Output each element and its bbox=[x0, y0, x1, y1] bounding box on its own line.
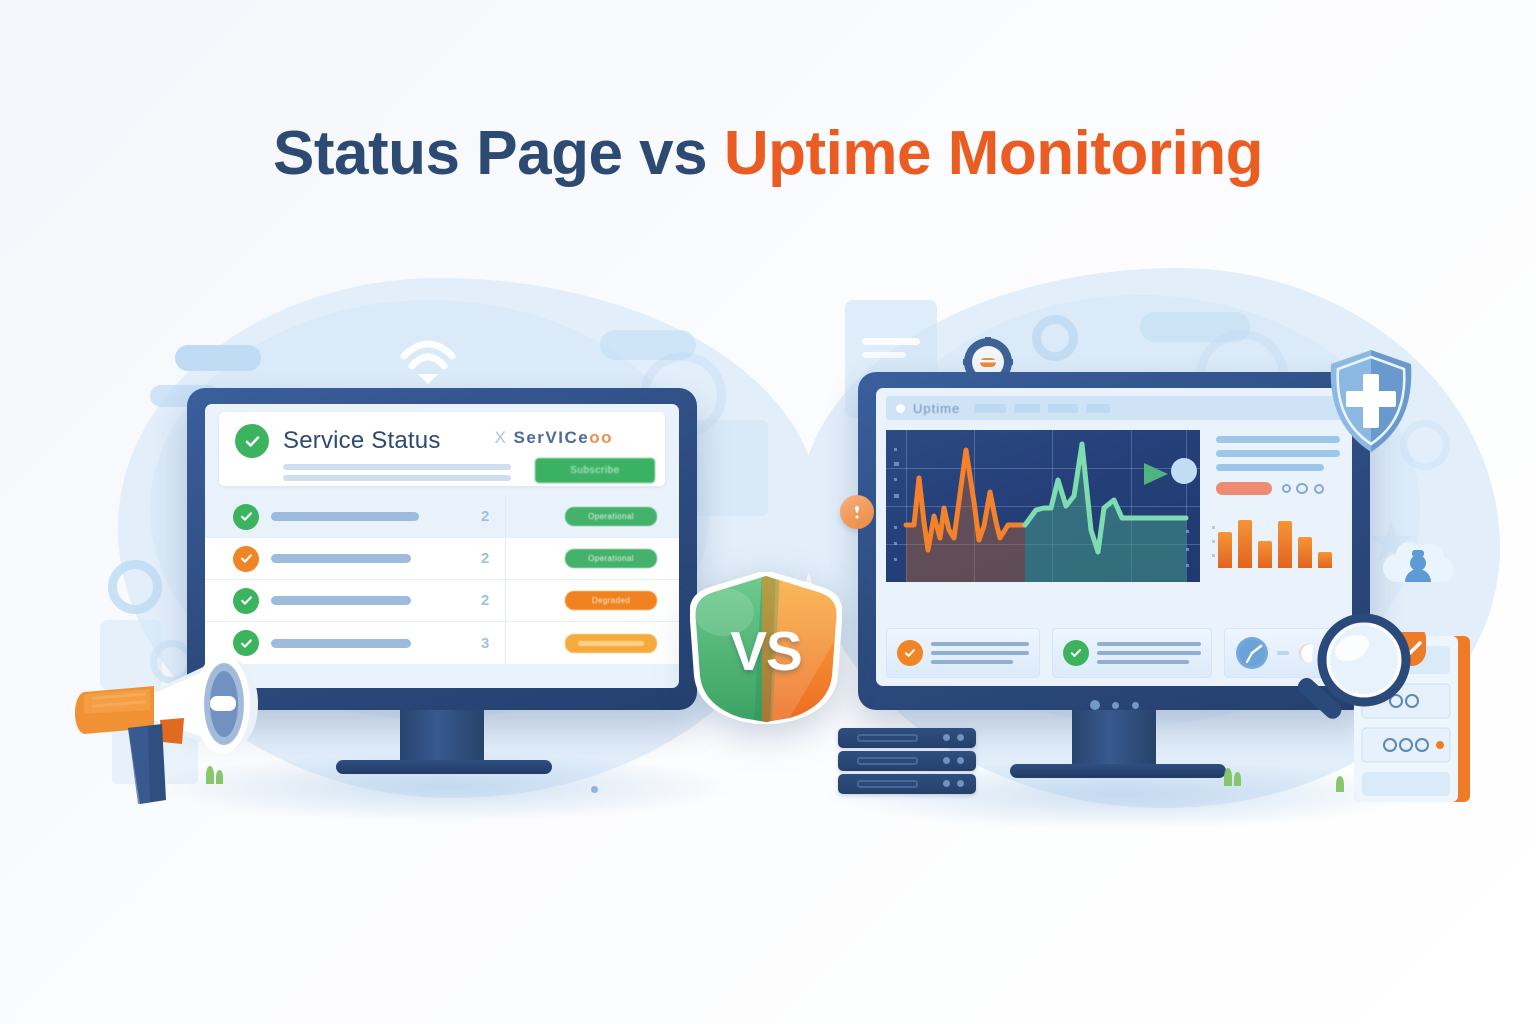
gear-icon bbox=[108, 560, 162, 614]
row-label-bar bbox=[271, 554, 411, 563]
mini-bar bbox=[1238, 520, 1252, 568]
row-count: 2 bbox=[481, 508, 489, 525]
topbar-chip bbox=[1048, 404, 1078, 413]
table-row[interactable]: 2 Degraded bbox=[205, 580, 679, 622]
doc-deco bbox=[690, 420, 768, 516]
bezel-dot bbox=[591, 786, 598, 793]
subscribe-button[interactable]: Subscribe bbox=[535, 458, 655, 483]
server-unit bbox=[838, 751, 976, 771]
badge-inner-bar bbox=[578, 641, 644, 646]
service-status-header-card: Service Status XSerVICeoo Subscribe bbox=[219, 412, 665, 486]
sidebar-line bbox=[1216, 464, 1324, 471]
status-badge: Degraded bbox=[565, 591, 657, 610]
row-label-bar bbox=[271, 596, 411, 605]
title-part-status-page: Status Page vs bbox=[273, 119, 724, 188]
header-placeholder-line bbox=[283, 475, 511, 481]
topbar-chip bbox=[1014, 404, 1040, 413]
mini-bar bbox=[1278, 521, 1292, 568]
server-led bbox=[943, 734, 950, 741]
server-slot bbox=[857, 780, 918, 788]
card-line bbox=[931, 651, 1029, 655]
row-divider bbox=[505, 580, 506, 621]
ring-icon bbox=[1296, 483, 1308, 494]
check-circle-icon bbox=[233, 546, 259, 572]
server-slot bbox=[857, 757, 918, 765]
server-led bbox=[943, 757, 950, 764]
gear-icon bbox=[1032, 315, 1078, 361]
server-led bbox=[957, 780, 964, 787]
dashboard-title: Uptime bbox=[913, 401, 960, 416]
circle-icon bbox=[896, 404, 905, 413]
axis-tick bbox=[1212, 540, 1215, 543]
wifi-icon bbox=[398, 340, 458, 393]
server-unit bbox=[838, 774, 976, 794]
card-line bbox=[1097, 642, 1201, 646]
brand-suffix: oo bbox=[589, 428, 613, 447]
check-circle-icon bbox=[235, 424, 269, 458]
table-row[interactable]: 2 Operational bbox=[205, 538, 679, 580]
card-lines bbox=[931, 642, 1029, 664]
bezel-dot bbox=[1112, 702, 1119, 709]
sidebar-pill bbox=[1216, 482, 1272, 495]
dashboard-card[interactable] bbox=[1052, 628, 1212, 678]
mini-bar bbox=[1318, 552, 1332, 568]
monitor-base-left bbox=[336, 760, 552, 774]
row-divider bbox=[505, 496, 506, 537]
doc-line-deco bbox=[862, 352, 906, 358]
check-circle-icon bbox=[233, 588, 259, 614]
service-status-title: Service Status bbox=[283, 427, 441, 455]
dashboard-topbar: Uptime bbox=[886, 396, 1342, 420]
brand-name: SerVICe bbox=[514, 428, 590, 447]
gauge-icon bbox=[1235, 636, 1269, 670]
row-divider bbox=[505, 622, 506, 664]
illustration-canvas: Status Page vs Uptime Monitoring bbox=[0, 0, 1536, 1024]
card-lines bbox=[1097, 642, 1201, 664]
check-circle-icon bbox=[233, 504, 259, 530]
bezel-dot bbox=[1132, 702, 1139, 709]
magnifying-glass-icon bbox=[1286, 612, 1416, 744]
dashboard-screen: Uptime bbox=[876, 388, 1352, 686]
row-count: 2 bbox=[481, 592, 489, 609]
service-brand-logo: XSerVICeoo bbox=[495, 428, 613, 448]
server-unit bbox=[838, 728, 976, 748]
server-led bbox=[943, 780, 950, 787]
monitor-base-right bbox=[1010, 764, 1226, 778]
monitor-neck-left bbox=[400, 710, 484, 762]
axis-tick bbox=[1212, 526, 1215, 529]
shield-cross-icon bbox=[1325, 348, 1417, 458]
grass-deco bbox=[1336, 776, 1344, 792]
sidebar-line bbox=[1216, 450, 1340, 457]
grass-deco bbox=[1224, 768, 1232, 786]
server-led bbox=[957, 757, 964, 764]
user-avatar-icon bbox=[1378, 538, 1458, 600]
server-slot bbox=[857, 734, 918, 742]
page-title: Status Page vs Uptime Monitoring bbox=[0, 118, 1536, 189]
status-badge bbox=[565, 634, 657, 653]
server-led bbox=[957, 734, 964, 741]
grass-deco bbox=[1234, 772, 1241, 786]
ring-icon bbox=[1314, 484, 1324, 494]
mini-bar bbox=[1218, 532, 1232, 568]
alert-circle-icon bbox=[840, 495, 874, 529]
title-part-uptime-monitoring: Uptime Monitoring bbox=[724, 119, 1263, 188]
header-placeholder-line bbox=[283, 464, 511, 470]
axis-tick bbox=[1212, 554, 1215, 557]
card-line bbox=[931, 642, 1029, 646]
card-line bbox=[931, 660, 1013, 664]
vs-badge: VS bbox=[690, 572, 842, 724]
topbar-chip bbox=[1086, 404, 1110, 413]
dashboard-card[interactable] bbox=[886, 628, 1040, 678]
monitor-neck-right bbox=[1072, 710, 1156, 766]
row-divider bbox=[505, 538, 506, 579]
topbar-chip bbox=[974, 404, 1006, 413]
sidebar-line bbox=[1216, 436, 1340, 443]
cloud-icon bbox=[175, 345, 261, 371]
table-row[interactable]: 2 Operational bbox=[205, 496, 679, 538]
mini-bar bbox=[1298, 537, 1312, 568]
server-stack-icon bbox=[838, 728, 978, 794]
service-status-header: Service Status bbox=[235, 424, 441, 458]
card-line bbox=[1097, 660, 1189, 664]
status-badge: Operational bbox=[565, 549, 657, 568]
ring-icon bbox=[1282, 484, 1291, 493]
mini-bar bbox=[1258, 541, 1272, 568]
megaphone-icon bbox=[62, 632, 297, 812]
row-count: 3 bbox=[481, 635, 489, 652]
card-line bbox=[1097, 651, 1201, 655]
brand-x-mark: X bbox=[495, 428, 508, 447]
check-circle-icon bbox=[1063, 640, 1089, 666]
doc-line-deco bbox=[862, 338, 920, 345]
vs-label: VS bbox=[690, 572, 842, 724]
row-label-bar bbox=[271, 512, 419, 521]
check-circle-icon bbox=[897, 640, 923, 666]
uptime-waveform-chart bbox=[886, 430, 1200, 582]
bezel-dot bbox=[1090, 700, 1100, 710]
row-count: 2 bbox=[481, 550, 489, 567]
status-badge: Operational bbox=[565, 507, 657, 526]
